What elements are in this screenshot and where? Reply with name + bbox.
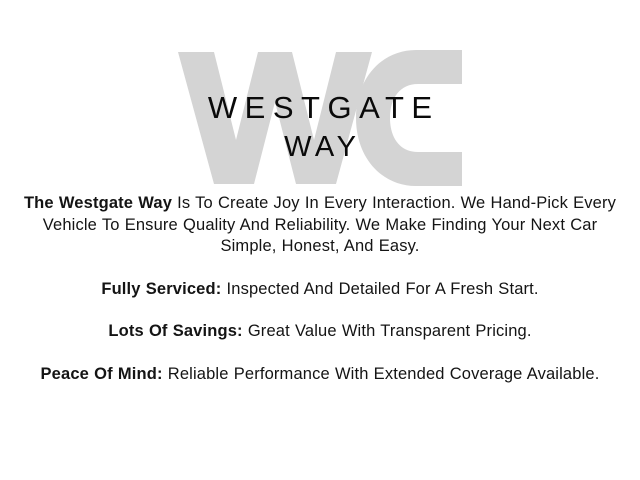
feature-peace-of-mind-rest: Reliable Performance With Extended Cover…: [163, 365, 600, 383]
intro-paragraph: The Westgate Way Is To Create Joy In Eve…: [14, 193, 626, 258]
promo-page: WESTGATE WAY The Westgate Way Is To Crea…: [0, 0, 640, 480]
feature-peace-of-mind-lead: Peace Of Mind:: [41, 365, 163, 383]
logo-secondary-text: WAY: [0, 133, 640, 162]
logo-primary-text: WESTGATE: [0, 92, 640, 123]
brand-logo-block: WESTGATE WAY: [0, 0, 640, 185]
feature-fully-serviced-lead: Fully Serviced:: [101, 280, 221, 298]
feature-lots-of-savings-lead: Lots Of Savings:: [108, 322, 242, 340]
feature-peace-of-mind: Peace Of Mind: Reliable Performance With…: [14, 364, 626, 386]
feature-fully-serviced: Fully Serviced: Inspected And Detailed F…: [14, 279, 626, 301]
body-copy: The Westgate Way Is To Create Joy In Eve…: [0, 193, 640, 385]
feature-lots-of-savings-rest: Great Value With Transparent Pricing.: [243, 322, 532, 340]
brand-logo-text: WESTGATE WAY: [0, 0, 640, 185]
feature-fully-serviced-rest: Inspected And Detailed For A Fresh Start…: [221, 280, 538, 298]
feature-lots-of-savings: Lots Of Savings: Great Value With Transp…: [14, 321, 626, 343]
intro-lead: The Westgate Way: [24, 194, 172, 212]
